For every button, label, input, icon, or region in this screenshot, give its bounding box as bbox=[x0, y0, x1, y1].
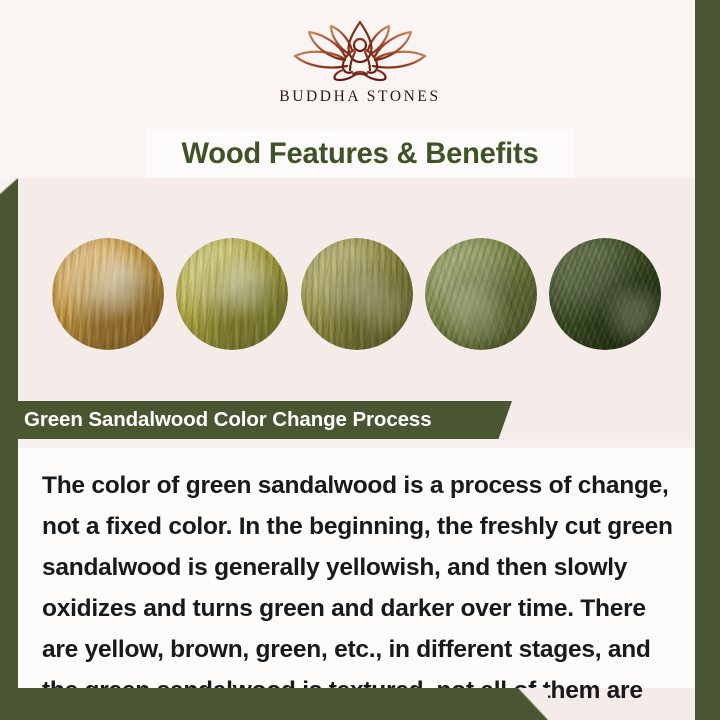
section-banner-label: Green Sandalwood Color Change Process bbox=[24, 401, 432, 439]
page-title: Wood Features & Benefits bbox=[181, 137, 538, 171]
description-card: The color of green sandalwood is a proce… bbox=[18, 439, 695, 688]
brand-header: BUDDHA STONES bbox=[0, 0, 720, 128]
section-banner-angled-tail bbox=[482, 401, 512, 439]
frame-band-bottom-notch bbox=[518, 688, 548, 720]
bead-stage-4 bbox=[425, 238, 537, 350]
bead-stage-2 bbox=[176, 238, 288, 350]
bead-stage-5 bbox=[549, 238, 661, 350]
description-paragraph: The color of green sandalwood is a proce… bbox=[42, 465, 682, 720]
card-top-strip bbox=[18, 439, 695, 448]
bead-stage-3 bbox=[301, 238, 413, 350]
brand-name: BUDDHA STONES bbox=[279, 88, 440, 106]
poster-canvas: BUDDHA STONES Wood Features & Benefits bbox=[0, 0, 720, 720]
frame-band-bottom bbox=[0, 688, 546, 720]
bead-stage-1 bbox=[52, 238, 164, 350]
lotus-meditation-figure-icon bbox=[285, 20, 435, 82]
frame-band-left-notch bbox=[0, 178, 18, 194]
frame-band-right bbox=[695, 0, 720, 720]
frame-band-left bbox=[0, 178, 18, 720]
page-title-banner: Wood Features & Benefits bbox=[146, 129, 574, 178]
section-banner: Green Sandalwood Color Change Process bbox=[0, 401, 512, 439]
bead-color-progression bbox=[18, 228, 695, 360]
